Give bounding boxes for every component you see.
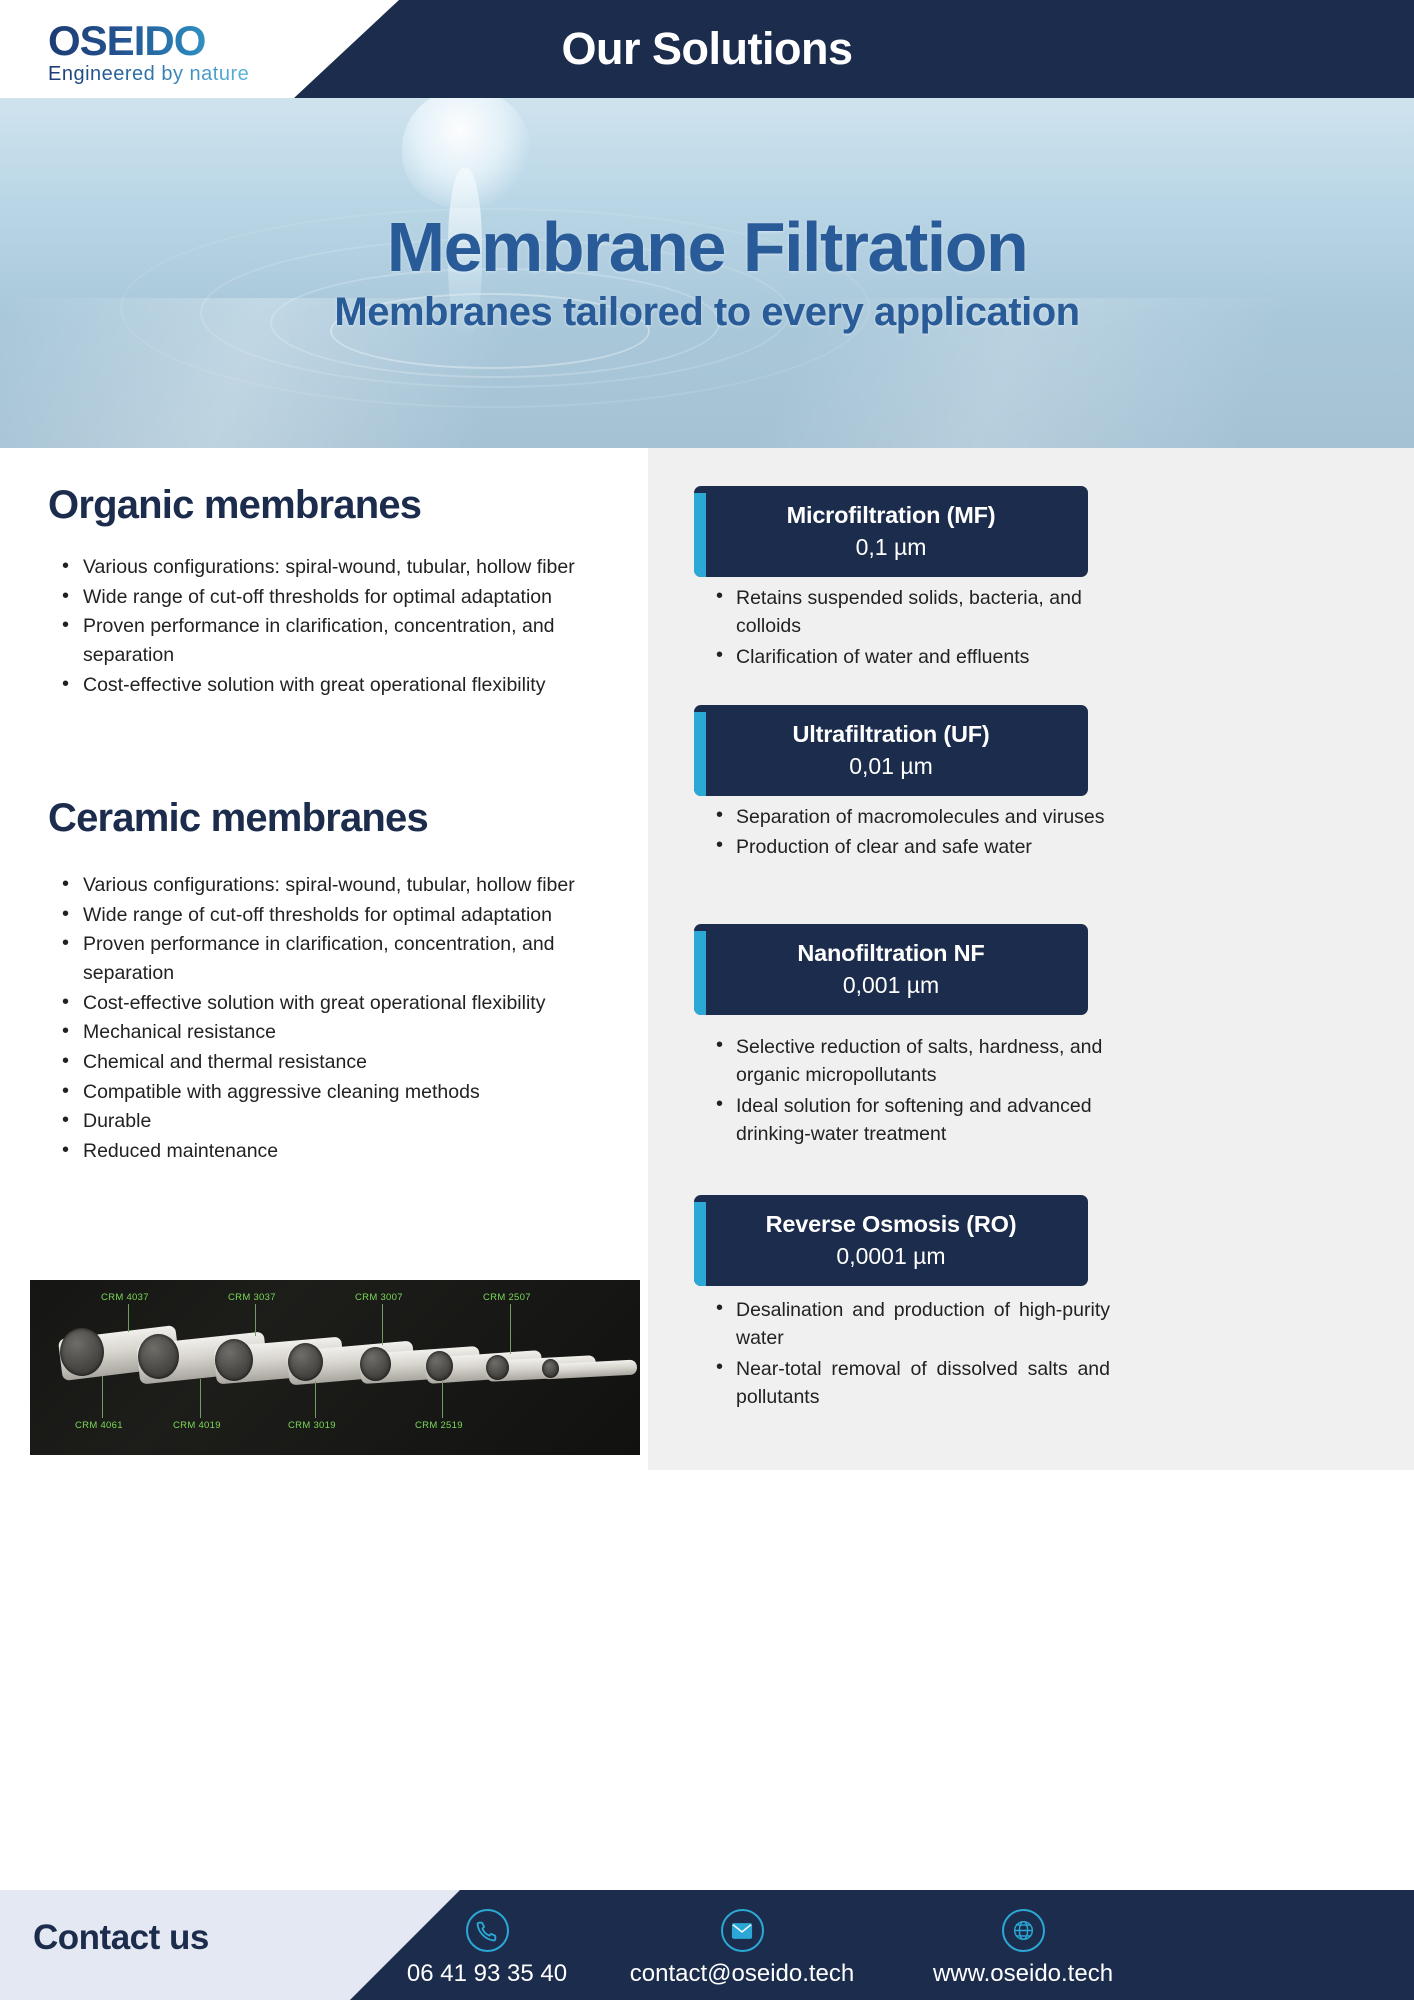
hero-text-block: Membrane Filtration Membranes tailored t… xyxy=(0,98,1414,448)
list-item: Retains suspended solids, bacteria, and … xyxy=(710,584,1110,641)
list-item: Chemical and thermal resistance xyxy=(50,1048,630,1077)
card-microfiltration[interactable]: Microfiltration (MF) 0,1 µm xyxy=(694,486,1088,577)
contact-email[interactable]: contact@oseido.tech xyxy=(612,1909,872,1988)
list-item: Compatible with aggressive cleaning meth… xyxy=(50,1078,630,1107)
membrane-cross-section xyxy=(426,1351,453,1381)
list-item: Mechanical resistance xyxy=(50,1018,630,1047)
product-label: CRM 2507 xyxy=(483,1292,531,1303)
leader-line xyxy=(382,1304,383,1345)
list-item: Selective reduction of salts, hardness, … xyxy=(710,1033,1110,1090)
leader-line xyxy=(200,1379,201,1418)
membrane-cross-section xyxy=(360,1347,391,1381)
contact-phone-text: 06 41 93 35 40 xyxy=(392,1960,582,1988)
list-item: Production of clear and safe water xyxy=(710,833,1110,861)
leader-line xyxy=(510,1304,511,1354)
membrane-cross-section xyxy=(60,1328,104,1376)
product-label: CRM 4061 xyxy=(75,1420,123,1431)
list-item: Reduced maintenance xyxy=(50,1137,630,1166)
contact-website-text: www.oseido.tech xyxy=(898,1960,1148,1988)
product-label: CRM 3007 xyxy=(355,1292,403,1303)
membrane-cross-section xyxy=(288,1343,323,1381)
ceramic-membranes-bullets: Various configurations: spiral-wound, tu… xyxy=(50,871,630,1167)
contact-website[interactable]: www.oseido.tech xyxy=(898,1909,1148,1988)
content-area: Organic membranes Various configurations… xyxy=(0,448,1414,1470)
card-accent-bar xyxy=(694,1202,706,1286)
card-title: Microfiltration (MF) xyxy=(694,486,1088,529)
leader-line xyxy=(128,1304,129,1332)
card-value: 0,0001 µm xyxy=(694,1238,1088,1286)
list-item: Clarification of water and effluents xyxy=(710,643,1110,671)
list-item: Wide range of cut-off thresholds for opt… xyxy=(50,901,630,930)
nanofiltration-bullets: Selective reduction of salts, hardness, … xyxy=(710,1033,1110,1150)
membrane-cross-section xyxy=(542,1359,559,1378)
product-label: CRM 4019 xyxy=(173,1420,221,1431)
membrane-cross-section xyxy=(138,1334,179,1379)
ultrafiltration-bullets: Separation of macromolecules and viruses… xyxy=(710,803,1110,864)
section-heading-ceramic: Ceramic membranes xyxy=(48,796,428,841)
membrane-cross-section xyxy=(486,1355,509,1380)
microfiltration-bullets: Retains suspended solids, bacteria, and … xyxy=(710,584,1110,673)
card-ultrafiltration[interactable]: Ultrafiltration (UF) 0,01 µm xyxy=(694,705,1088,796)
page-header: Our Solutions OSEIDO Engineered by natur… xyxy=(0,0,1414,98)
right-column: Microfiltration (MF) 0,1 µm Retains susp… xyxy=(648,448,1414,1470)
card-accent-bar xyxy=(694,493,706,577)
section-heading-organic: Organic membranes xyxy=(48,483,421,528)
page-footer: Contact us 06 41 93 35 40 contact@oseido… xyxy=(0,1470,1414,2000)
card-value: 0,01 µm xyxy=(694,748,1088,796)
product-label: CRM 3019 xyxy=(288,1420,336,1431)
card-title: Nanofiltration NF xyxy=(694,924,1088,967)
ceramic-membrane-product-image: CRM 4037 CRM 3037 CRM 3007 CRM 2507 CRM … xyxy=(30,1280,640,1455)
list-item: Separation of macromolecules and viruses xyxy=(710,803,1110,831)
phone-icon xyxy=(466,1909,509,1952)
list-item: Near-total removal of dissolved salts an… xyxy=(710,1355,1110,1412)
brand-logo: OSEIDO Engineered by nature xyxy=(48,20,249,85)
card-value: 0,001 µm xyxy=(694,967,1088,1015)
logo-wordmark: OSEIDO xyxy=(48,20,249,62)
left-column: Organic membranes Various configurations… xyxy=(0,448,648,1470)
card-accent-bar xyxy=(694,712,706,796)
list-item: Proven performance in clarification, con… xyxy=(50,612,630,669)
product-label: CRM 4037 xyxy=(101,1292,149,1303)
card-reverse-osmosis[interactable]: Reverse Osmosis (RO) 0,0001 µm xyxy=(694,1195,1088,1286)
reverse-osmosis-bullets: Desalination and production of high-puri… xyxy=(710,1296,1110,1413)
hero-banner: Membrane Filtration Membranes tailored t… xyxy=(0,98,1414,448)
card-title: Reverse Osmosis (RO) xyxy=(694,1195,1088,1238)
list-item: Wide range of cut-off thresholds for opt… xyxy=(50,583,630,612)
logo-tagline: Engineered by nature xyxy=(48,63,249,85)
card-nanofiltration[interactable]: Nanofiltration NF 0,001 µm xyxy=(694,924,1088,1015)
list-item: Ideal solution for softening and advance… xyxy=(710,1092,1110,1149)
product-label: CRM 3037 xyxy=(228,1292,276,1303)
contact-email-text: contact@oseido.tech xyxy=(612,1960,872,1988)
list-item: Cost-effective solution with great opera… xyxy=(50,671,630,700)
list-item: Durable xyxy=(50,1107,630,1136)
leader-line xyxy=(102,1376,103,1418)
membrane-cross-section xyxy=(215,1339,253,1381)
organic-membranes-bullets: Various configurations: spiral-wound, tu… xyxy=(50,553,630,700)
poster-page: Our Solutions OSEIDO Engineered by natur… xyxy=(0,0,1414,2000)
list-item: Desalination and production of high-puri… xyxy=(710,1296,1110,1353)
list-item: Various configurations: spiral-wound, tu… xyxy=(50,871,630,900)
list-item: Cost-effective solution with great opera… xyxy=(50,989,630,1018)
product-label: CRM 2519 xyxy=(415,1420,463,1431)
hero-title: Membrane Filtration xyxy=(387,211,1027,285)
contact-phone[interactable]: 06 41 93 35 40 xyxy=(392,1909,582,1988)
card-accent-bar xyxy=(694,931,706,1015)
contact-us-heading: Contact us xyxy=(33,1918,209,1958)
list-item: Various configurations: spiral-wound, tu… xyxy=(50,553,630,582)
list-item: Proven performance in clarification, con… xyxy=(50,930,630,987)
leader-line xyxy=(315,1381,316,1418)
card-title: Ultrafiltration (UF) xyxy=(694,705,1088,748)
envelope-icon xyxy=(721,1909,764,1952)
card-value: 0,1 µm xyxy=(694,529,1088,577)
globe-icon xyxy=(1002,1909,1045,1952)
leader-line xyxy=(255,1304,256,1336)
leader-line xyxy=(442,1380,443,1418)
hero-subtitle: Membranes tailored to every application xyxy=(334,290,1079,335)
